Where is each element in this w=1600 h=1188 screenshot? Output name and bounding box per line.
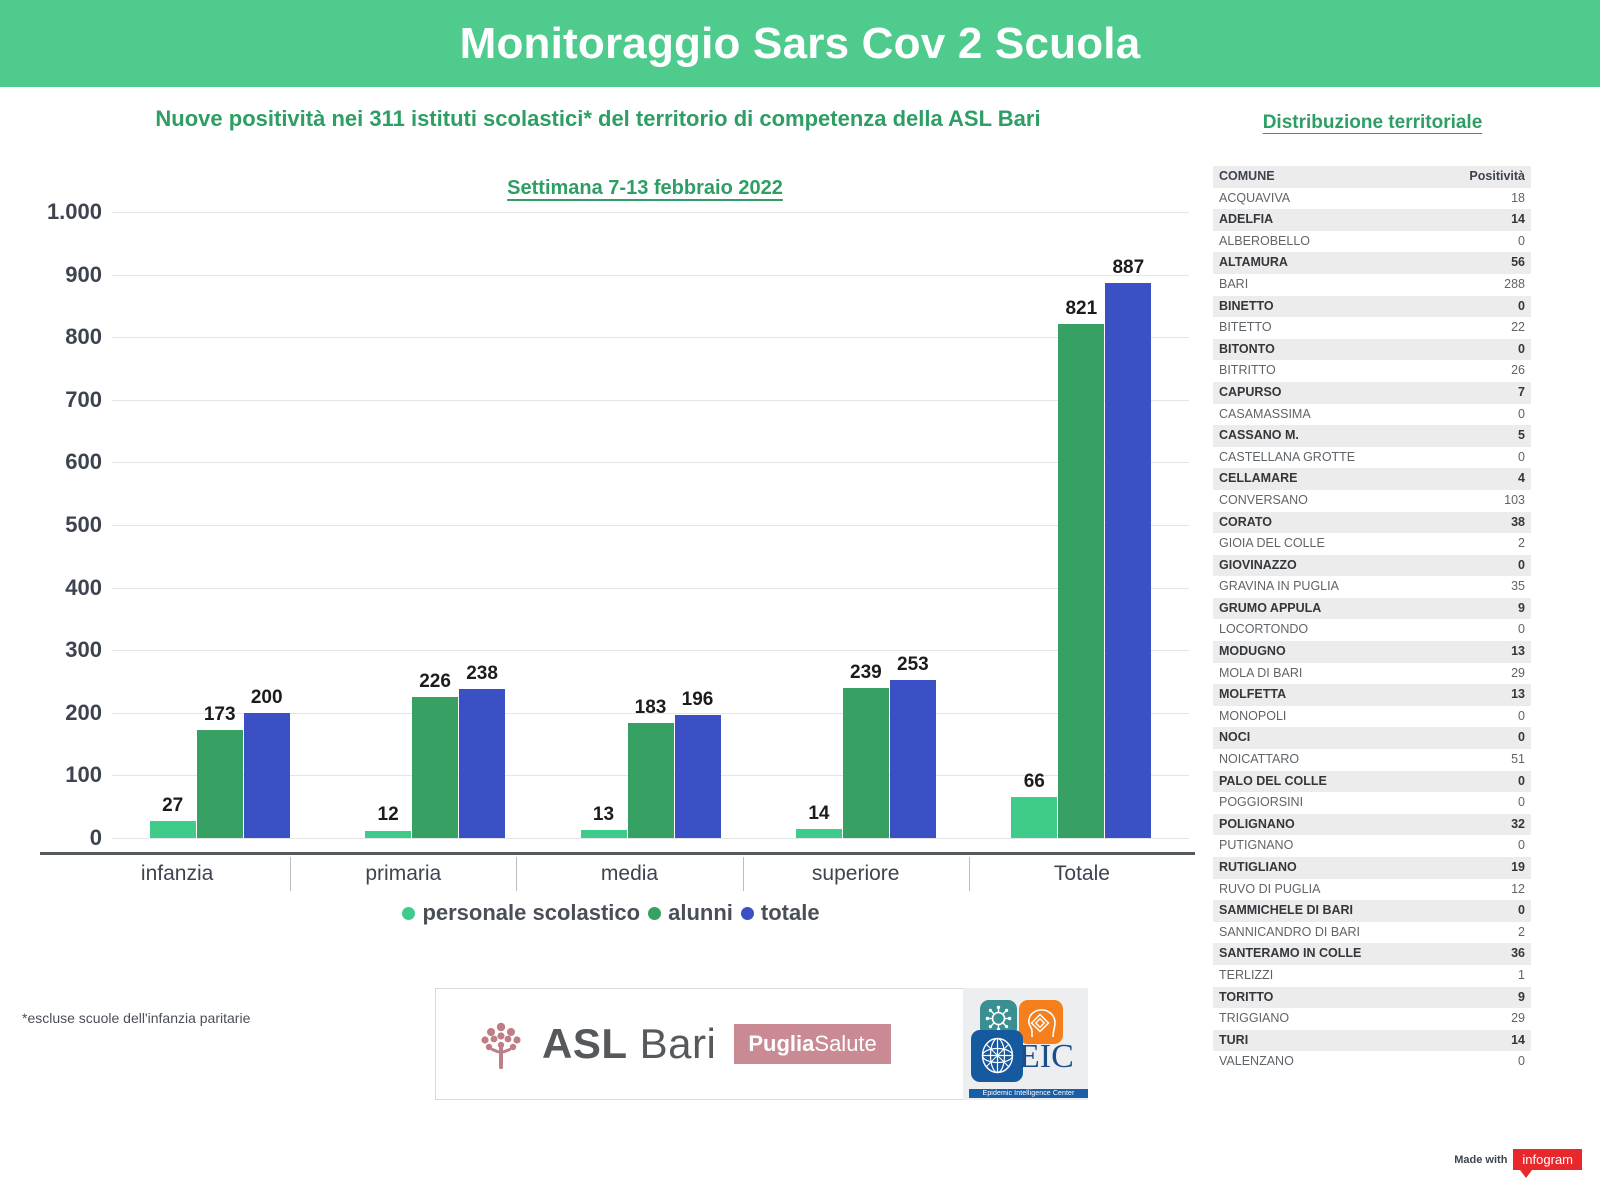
cell-comune: PUTIGNANO	[1213, 835, 1391, 857]
bar-value-label: 196	[682, 689, 714, 711]
made-with-label: Made with	[1454, 1154, 1507, 1166]
bar-infanzia-totale[interactable]	[244, 713, 290, 838]
bar-value-label: 12	[378, 804, 399, 826]
table-row: POGGIORSINI0	[1213, 792, 1531, 814]
y-axis-tick-label: 500	[65, 512, 102, 538]
cell-comune: SAMMICHELE DI BARI	[1213, 900, 1391, 922]
salute-word: Salute	[814, 1031, 876, 1056]
bari-word: Bari	[640, 1020, 717, 1067]
bar-value-label: 173	[204, 704, 236, 726]
puglia-salute-badge: PugliaSalute	[734, 1024, 890, 1064]
table-row: CASTELLANA GROTTE0	[1213, 447, 1531, 469]
cell-positivita: 35	[1391, 576, 1531, 598]
table-row: MONOPOLI0	[1213, 706, 1531, 728]
table-row: BARI288	[1213, 274, 1531, 296]
made-with-infogram[interactable]: Made with infogram	[1454, 1149, 1582, 1170]
footnote: *escluse scuole dell'infanzia paritarie	[22, 1010, 250, 1026]
cell-positivita: 0	[1391, 771, 1531, 793]
cell-comune: BINETTO	[1213, 296, 1391, 318]
table-row: LOCORTONDO0	[1213, 619, 1531, 641]
table-row: NOCI0	[1213, 727, 1531, 749]
legend-label: totale	[761, 900, 820, 926]
cell-comune: CELLAMARE	[1213, 468, 1391, 490]
bar-totale-totale[interactable]	[1105, 283, 1151, 838]
cell-positivita: 0	[1391, 835, 1531, 857]
cell-positivita: 0	[1391, 231, 1531, 253]
cell-positivita: 32	[1391, 814, 1531, 836]
puglia-word: Puglia	[748, 1031, 814, 1056]
table-row: POLIGNANO32	[1213, 814, 1531, 836]
cell-comune: ACQUAVIVA	[1213, 188, 1391, 210]
table-row: TURI14	[1213, 1030, 1531, 1052]
cell-positivita: 288	[1391, 274, 1531, 296]
table-row: ADELFIA14	[1213, 209, 1531, 231]
cell-comune: RUTIGLIANO	[1213, 857, 1391, 879]
cell-positivita: 0	[1391, 296, 1531, 318]
chart-subtitle: Nuove positività nei 311 istituti scolas…	[0, 106, 1196, 132]
cell-comune: ALTAMURA	[1213, 252, 1391, 274]
tree-icon	[478, 1018, 524, 1070]
bar-totale-alunni[interactable]	[1058, 324, 1104, 838]
table-row: ACQUAVIVA18	[1213, 188, 1531, 210]
cell-positivita: 0	[1391, 727, 1531, 749]
gridline	[112, 838, 1189, 839]
cell-comune: MODUGNO	[1213, 641, 1391, 663]
eic-logo-box: EIC Epidemic Intelligence Center	[963, 988, 1088, 1100]
y-axis-tick-label: 400	[65, 575, 102, 601]
table-row: CORATO38	[1213, 512, 1531, 534]
bar-value-label: 887	[1112, 257, 1144, 279]
bar-media-alunni[interactable]	[628, 723, 674, 838]
table-row: SAMMICHELE DI BARI0	[1213, 900, 1531, 922]
table-row: CASSANO M.5	[1213, 425, 1531, 447]
bar-primaria-personale-scolastico[interactable]	[365, 831, 411, 839]
header-band: Monitoraggio Sars Cov 2 Scuola	[0, 0, 1600, 87]
cell-comune: POLIGNANO	[1213, 814, 1391, 836]
cell-positivita: 1	[1391, 965, 1531, 987]
cell-positivita: 13	[1391, 641, 1531, 663]
cell-comune: MOLFETTA	[1213, 684, 1391, 706]
cell-comune: LOCORTONDO	[1213, 619, 1391, 641]
cell-comune: NOICATTARO	[1213, 749, 1391, 771]
bar-value-label: 239	[850, 662, 882, 684]
cell-positivita: 2	[1391, 922, 1531, 944]
table-row: TERLIZZI1	[1213, 965, 1531, 987]
bar-infanzia-alunni[interactable]	[197, 730, 243, 838]
legend-item-alunni[interactable]: alunni	[648, 900, 733, 926]
y-axis-tick-label: 300	[65, 637, 102, 663]
table-header-row: COMUNE Positività	[1213, 166, 1531, 188]
table-row: BITONTO0	[1213, 339, 1531, 361]
cell-positivita: 0	[1391, 404, 1531, 426]
ai-head-icon	[1023, 1004, 1059, 1040]
bar-primaria-totale[interactable]	[459, 689, 505, 838]
x-axis-category-superiore: superiore	[743, 855, 969, 893]
cell-positivita: 0	[1391, 1051, 1531, 1073]
chart-legend: personale scolasticoalunnitotale	[0, 900, 1222, 926]
cell-comune: TURI	[1213, 1030, 1391, 1052]
gridline	[112, 337, 1189, 338]
cell-comune: PALO DEL COLLE	[1213, 771, 1391, 793]
cell-positivita: 13	[1391, 684, 1531, 706]
infographic-page: Monitoraggio Sars Cov 2 Scuola Nuove pos…	[0, 0, 1600, 1188]
column-header-comune: COMUNE	[1213, 166, 1391, 188]
y-axis-tick-label: 600	[65, 449, 102, 475]
y-axis-tick-label: 800	[65, 324, 102, 350]
bar-value-label: 183	[635, 697, 667, 719]
cell-positivita: 5	[1391, 425, 1531, 447]
cell-positivita: 12	[1391, 879, 1531, 901]
table-row: MOLA DI BARI29	[1213, 663, 1531, 685]
bar-value-label: 13	[593, 804, 614, 826]
table-row: MOLFETTA13	[1213, 684, 1531, 706]
cell-positivita: 29	[1391, 663, 1531, 685]
cell-comune: GRUMO APPULA	[1213, 598, 1391, 620]
cell-comune: GIOVINAZZO	[1213, 555, 1391, 577]
cell-comune: MOLA DI BARI	[1213, 663, 1391, 685]
bar-infanzia-personale-scolastico[interactable]	[150, 821, 196, 838]
bar-value-label: 200	[251, 687, 283, 709]
cell-positivita: 0	[1391, 339, 1531, 361]
cell-positivita: 0	[1391, 706, 1531, 728]
gridline	[112, 275, 1189, 276]
bar-superiore-totale[interactable]	[890, 680, 936, 838]
bar-primaria-alunni[interactable]	[412, 697, 458, 838]
cell-comune: GIOIA DEL COLLE	[1213, 533, 1391, 555]
cell-comune: SANNICANDRO DI BARI	[1213, 922, 1391, 944]
y-axis-tick-label: 200	[65, 700, 102, 726]
gridline	[112, 212, 1189, 213]
table-row: GRUMO APPULA9	[1213, 598, 1531, 620]
bar-media-personale-scolastico[interactable]	[581, 830, 627, 838]
cell-positivita: 2	[1391, 533, 1531, 555]
legend-item-totale[interactable]: totale	[741, 900, 820, 926]
cell-positivita: 0	[1391, 619, 1531, 641]
cell-comune: ADELFIA	[1213, 209, 1391, 231]
x-axis-category-infanzia: infanzia	[64, 855, 290, 893]
column-header-positivita: Positività	[1391, 166, 1531, 188]
y-axis-labels: 01002003004005006007008009001.000	[24, 212, 112, 852]
globe-icon	[978, 1036, 1017, 1075]
infogram-brand-tag[interactable]: infogram	[1513, 1149, 1582, 1170]
table-row: TRIGGIANO29	[1213, 1008, 1531, 1030]
cell-comune: BITONTO	[1213, 339, 1391, 361]
table-row: GIOVINAZZO0	[1213, 555, 1531, 577]
cell-positivita: 51	[1391, 749, 1531, 771]
cell-positivita: 9	[1391, 987, 1531, 1009]
table-row: NOICATTARO51	[1213, 749, 1531, 771]
table-row: CASAMASSIMA0	[1213, 404, 1531, 426]
table-row: RUTIGLIANO19	[1213, 857, 1531, 879]
cell-positivita: 0	[1391, 900, 1531, 922]
x-axis-category-media: media	[516, 855, 742, 893]
cell-positivita: 22	[1391, 317, 1531, 339]
bar-superiore-alunni[interactable]	[843, 688, 889, 838]
distribution-title: Distribuzione territoriale	[1205, 112, 1540, 134]
cell-comune: TORITTO	[1213, 987, 1391, 1009]
cell-comune: NOCI	[1213, 727, 1391, 749]
cell-positivita: 0	[1391, 792, 1531, 814]
table-row: SANTERAMO IN COLLE36	[1213, 943, 1531, 965]
distribution-table: COMUNE Positività ACQUAVIVA18ADELFIA14AL…	[1213, 166, 1531, 1073]
page-title: Monitoraggio Sars Cov 2 Scuola	[460, 19, 1141, 69]
cell-positivita: 103	[1391, 490, 1531, 512]
cell-comune: CASAMASSIMA	[1213, 404, 1391, 426]
table-row: VALENZANO0	[1213, 1051, 1531, 1073]
cell-comune: BITETTO	[1213, 317, 1391, 339]
bar-value-label: 253	[897, 654, 929, 676]
chart-week-label: Settimana 7-13 febbraio 2022	[0, 177, 1290, 200]
table-row: GIOIA DEL COLLE2	[1213, 533, 1531, 555]
cell-comune: TRIGGIANO	[1213, 1008, 1391, 1030]
legend-label: alunni	[668, 900, 733, 926]
cell-positivita: 36	[1391, 943, 1531, 965]
legend-label: personale scolastico	[422, 900, 640, 926]
table-row: ALTAMURA56	[1213, 252, 1531, 274]
cell-comune: TERLIZZI	[1213, 965, 1391, 987]
bar-value-label: 226	[419, 671, 451, 693]
bar-value-label: 14	[808, 803, 829, 825]
bar-chart: 01002003004005006007008009001.000 271732…	[24, 212, 1189, 852]
cell-positivita: 29	[1391, 1008, 1531, 1030]
cell-positivita: 19	[1391, 857, 1531, 879]
cell-positivita: 14	[1391, 1030, 1531, 1052]
cell-comune: POGGIORSINI	[1213, 792, 1391, 814]
distribution-table-wrap: COMUNE Positività ACQUAVIVA18ADELFIA14AL…	[1213, 166, 1531, 1073]
cell-positivita: 4	[1391, 468, 1531, 490]
x-axis-category-totale: Totale	[969, 855, 1195, 893]
table-row: BINETTO0	[1213, 296, 1531, 318]
y-axis-tick-label: 100	[65, 762, 102, 788]
cell-comune: RUVO DI PUGLIA	[1213, 879, 1391, 901]
legend-swatch-icon	[648, 907, 661, 920]
cell-positivita: 14	[1391, 209, 1531, 231]
x-axis-categories: infanziaprimariamediasuperioreTotale	[64, 855, 1195, 893]
table-row: TORITTO9	[1213, 987, 1531, 1009]
table-row: CAPURSO7	[1213, 382, 1531, 404]
y-axis-tick-label: 0	[90, 825, 102, 851]
table-row: PALO DEL COLLE0	[1213, 771, 1531, 793]
cell-comune: GRAVINA IN PUGLIA	[1213, 576, 1391, 598]
cell-positivita: 18	[1391, 188, 1531, 210]
bar-superiore-personale-scolastico[interactable]	[796, 829, 842, 838]
eic-subtitle: Epidemic Intelligence Center	[969, 1089, 1088, 1098]
gridline	[112, 525, 1189, 526]
bar-value-label: 66	[1024, 771, 1045, 793]
legend-swatch-icon	[741, 907, 754, 920]
table-row: RUVO DI PUGLIA12	[1213, 879, 1531, 901]
cell-positivita: 0	[1391, 555, 1531, 577]
x-axis-category-primaria: primaria	[290, 855, 516, 893]
chart-plot-area: 2717320012226238131831961423925366821887	[112, 212, 1189, 838]
legend-item-personale-scolastico[interactable]: personale scolastico	[402, 900, 640, 926]
table-row: CELLAMARE4	[1213, 468, 1531, 490]
table-row: MODUGNO13	[1213, 641, 1531, 663]
y-axis-tick-label: 700	[65, 387, 102, 413]
gridline	[112, 462, 1189, 463]
eic-wordmark: EIC	[1019, 1038, 1074, 1076]
table-row: ALBEROBELLO0	[1213, 231, 1531, 253]
asl-word: ASL	[542, 1020, 628, 1067]
cell-positivita: 9	[1391, 598, 1531, 620]
cell-comune: CONVERSANO	[1213, 490, 1391, 512]
y-axis-tick-label: 1.000	[47, 199, 102, 225]
cell-comune: CASTELLANA GROTTE	[1213, 447, 1391, 469]
table-row: BITRITTO26	[1213, 360, 1531, 382]
cell-comune: CORATO	[1213, 512, 1391, 534]
y-axis-tick-label: 900	[65, 262, 102, 288]
virus-icon	[985, 1005, 1012, 1032]
table-row: CONVERSANO103	[1213, 490, 1531, 512]
cell-comune: ALBEROBELLO	[1213, 231, 1391, 253]
cell-comune: MONOPOLI	[1213, 706, 1391, 728]
cell-positivita: 7	[1391, 382, 1531, 404]
cell-comune: CAPURSO	[1213, 382, 1391, 404]
cell-comune: BARI	[1213, 274, 1391, 296]
bar-value-label: 27	[162, 795, 183, 817]
bar-totale-personale-scolastico[interactable]	[1011, 797, 1057, 838]
cell-positivita: 38	[1391, 512, 1531, 534]
cell-positivita: 26	[1391, 360, 1531, 382]
cell-positivita: 0	[1391, 447, 1531, 469]
asl-bari-wordmark: ASL Bari	[542, 1020, 716, 1068]
bar-value-label: 238	[466, 663, 498, 685]
legend-swatch-icon	[402, 907, 415, 920]
bar-media-totale[interactable]	[675, 715, 721, 838]
gridline	[112, 588, 1189, 589]
cell-comune: VALENZANO	[1213, 1051, 1391, 1073]
bar-value-label: 821	[1065, 298, 1097, 320]
gridline	[112, 400, 1189, 401]
table-row: BITETTO22	[1213, 317, 1531, 339]
asl-bari-logo-box: ASL Bari PugliaSalute	[435, 988, 965, 1100]
table-row: PUTIGNANO0	[1213, 835, 1531, 857]
cell-comune: SANTERAMO IN COLLE	[1213, 943, 1391, 965]
cell-positivita: 56	[1391, 252, 1531, 274]
gridline	[112, 650, 1189, 651]
cell-comune: CASSANO M.	[1213, 425, 1391, 447]
cell-comune: BITRITTO	[1213, 360, 1391, 382]
table-row: SANNICANDRO DI BARI2	[1213, 922, 1531, 944]
table-row: GRAVINA IN PUGLIA35	[1213, 576, 1531, 598]
